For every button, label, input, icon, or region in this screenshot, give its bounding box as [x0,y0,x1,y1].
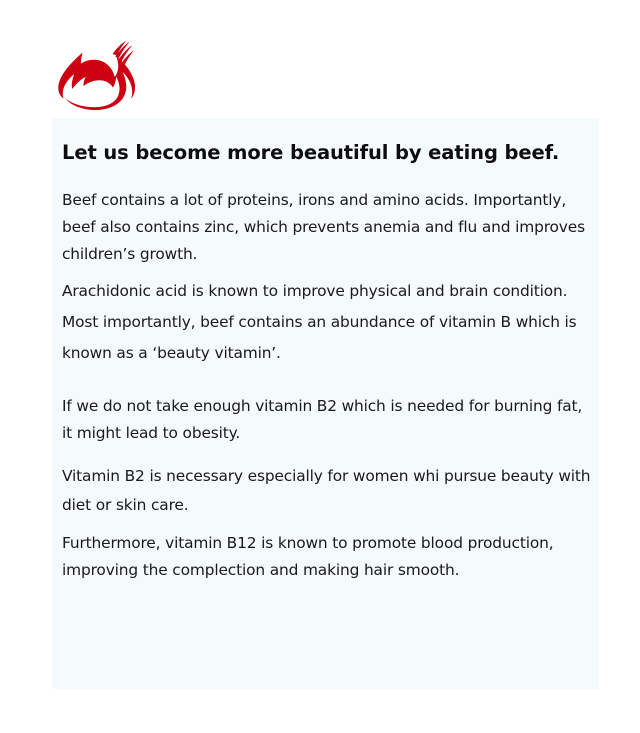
article-paragraph: Arachidonic acid is known to improve phy… [62,276,587,369]
article-paragraph: Vitamin B2 is necessary especially for w… [62,462,599,520]
page-root: Let us become more beautiful by eating b… [0,0,640,733]
article-paragraph: Beef contains a lot of proteins, irons a… [62,187,587,268]
page-title: Let us become more beautiful by eating b… [62,141,592,165]
article-paragraph: If we do not take enough vitamin B2 whic… [62,393,587,447]
article-paragraph: Furthermore, vitamin B12 is known to pro… [62,530,599,584]
article-panel: Let us become more beautiful by eating b… [52,118,599,689]
bull-head-brush-logo [52,40,144,112]
